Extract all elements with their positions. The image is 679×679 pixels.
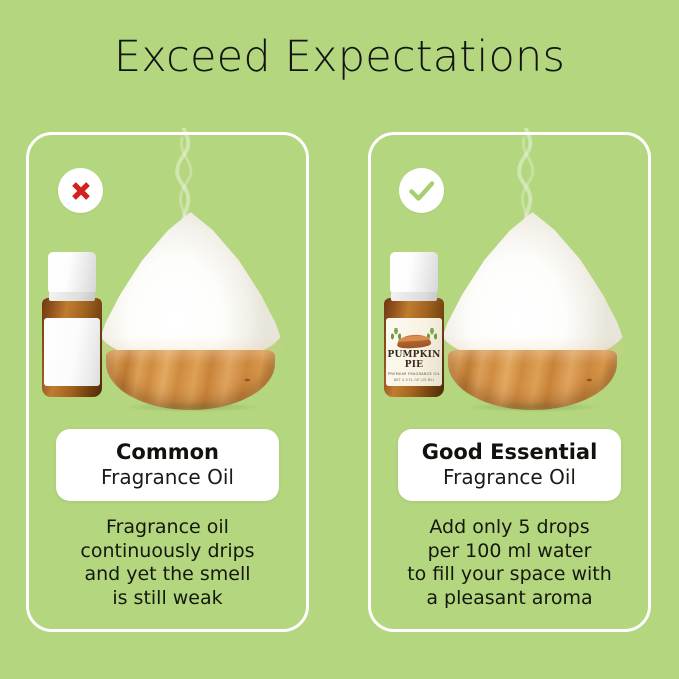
diffuser-shadow [466, 402, 602, 412]
product-category: Fragrance Oil [101, 465, 234, 490]
label-net-volume: NET 0.5 FL OZ (15 ML) [386, 378, 442, 382]
product-card-good-essential: Good Essential Fragrance Oil [398, 429, 621, 501]
scene-good-essential: PUMPKIN PIE PREMIUM FRAGRANCE OIL NET 0.… [368, 200, 651, 415]
bottle-collar [391, 292, 437, 301]
product-card-common: Common Fragrance Oil [56, 429, 279, 501]
page-title: Exceed Expectations [0, 34, 679, 81]
bottle-collar [49, 292, 95, 301]
scene-common [26, 200, 309, 415]
bottle-good-essential: PUMPKIN PIE PREMIUM FRAGRANCE OIL NET 0.… [384, 252, 444, 397]
bottle-cap [390, 252, 438, 294]
bottle-cap [48, 252, 96, 294]
diffuser-good-essential [440, 212, 625, 412]
description-good-essential: Add only 5 drops per 100 ml water to fil… [377, 516, 642, 610]
product-category: Fragrance Oil [443, 465, 576, 490]
diffuser-shadow [124, 402, 260, 412]
bottle-label-pumpkin-pie: PUMPKIN PIE PREMIUM FRAGRANCE OIL NET 0.… [386, 318, 442, 386]
diffuser-top [440, 212, 625, 362]
description-common: Fragrance oil continuously drips and yet… [35, 516, 300, 610]
bottle-common [42, 252, 102, 397]
product-name: Good Essential [422, 440, 598, 465]
diffuser-common [98, 212, 283, 412]
product-name: Common [116, 440, 219, 465]
bottle-label-blank [44, 318, 100, 386]
label-product-name: PUMPKIN PIE [386, 351, 442, 370]
diffuser-top [98, 212, 283, 362]
diffuser-wood-base [448, 350, 617, 410]
diffuser-wood-base [106, 350, 275, 410]
label-subtitle: PREMIUM FRAGRANCE OIL [386, 371, 442, 377]
infographic-canvas: Exceed Expectations Common Fragrance Oil… [0, 0, 679, 679]
